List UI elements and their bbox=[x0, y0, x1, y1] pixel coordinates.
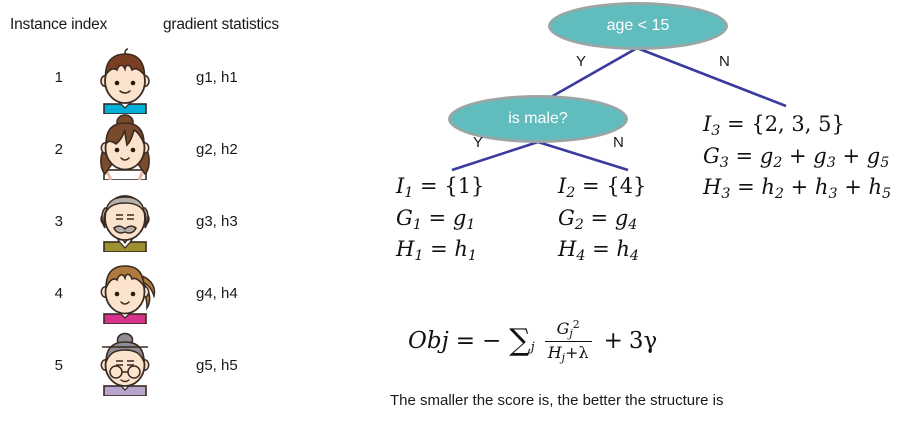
column-header-gradient-statistics: gradient statistics bbox=[163, 16, 279, 34]
edge-label-root-yes: Y bbox=[576, 53, 586, 70]
objective-equals: = bbox=[456, 328, 475, 354]
leaf-left-G-term-subscript: 1 bbox=[466, 217, 475, 233]
leaf-right-hessian-sum: H3 = h2 + h3 + h5 bbox=[703, 173, 891, 205]
leaf-right-I-value: {2, 3, 5} bbox=[751, 112, 845, 136]
figure-caption: The smaller the score is, the better the… bbox=[390, 392, 723, 409]
row-index-3: 3 bbox=[33, 213, 63, 230]
leaf-middle-G-term-subscript: 4 bbox=[628, 217, 637, 233]
leaf-right-G-symbol: G bbox=[703, 144, 720, 168]
leaf-right-H-term-3-subscript: 5 bbox=[882, 186, 891, 202]
objective-function-formula: Obj = − ∑j Gj2 Hj+λ + 3γ bbox=[408, 318, 657, 364]
summation-symbol: ∑j bbox=[509, 329, 530, 353]
fraction-numerator: Gj2 bbox=[554, 318, 583, 341]
leaf-right-H-symbol: H bbox=[703, 175, 721, 199]
numerator-base: G bbox=[557, 319, 570, 338]
old-woman-avatar bbox=[92, 330, 158, 396]
girl-ponytail-avatar bbox=[92, 258, 158, 324]
girl-bun-avatar bbox=[92, 114, 158, 180]
tree-node-is-male-label: is male? bbox=[508, 110, 568, 128]
leaf-middle-hessian-sum: H4 = h4 bbox=[558, 235, 646, 267]
leaf-left-gradient-sum: G1 = g1 bbox=[396, 204, 484, 236]
leaf-left-G-subscript: 1 bbox=[413, 217, 422, 233]
objective-minus-sign: − bbox=[482, 328, 501, 354]
numerator-exponent: 2 bbox=[573, 318, 580, 331]
leaf-middle-instances: I2 = {4} bbox=[558, 172, 646, 204]
leaf-middle-H-subscript: 4 bbox=[576, 248, 585, 264]
leaf-right-G-term-3-subscript: 5 bbox=[880, 155, 889, 171]
leaf-middle-H-symbol: H bbox=[558, 237, 576, 261]
fraction-denominator: Hj+λ bbox=[545, 341, 592, 364]
objective-lhs: Obj bbox=[408, 328, 449, 354]
leaf-left-H-term-subscript: 1 bbox=[468, 248, 477, 264]
sigma-glyph: ∑ bbox=[509, 323, 530, 358]
objective-fraction: Gj2 Hj+λ bbox=[545, 318, 592, 364]
row-index-5: 5 bbox=[33, 357, 63, 374]
leaf-right-G-term-3: g bbox=[867, 144, 880, 168]
tree-node-root-label: age < 15 bbox=[607, 17, 670, 35]
leaf-right-G-term-2: g bbox=[813, 144, 826, 168]
leaf-right-I-subscript: 3 bbox=[711, 123, 720, 139]
leaf-right-H-term-2-subscript: 3 bbox=[828, 186, 837, 202]
leaf-middle-gradient-sum: G2 = g4 bbox=[558, 204, 646, 236]
leaf-right-H-term-1: h bbox=[761, 175, 775, 199]
edge-label-root-no: N bbox=[719, 53, 730, 70]
leaf-middle-G-term: g bbox=[615, 206, 628, 230]
column-header-instance-index: Instance index bbox=[10, 16, 107, 34]
leaf-block-right: I3 = {2, 3, 5} G3 = g2 + g3 + g5 H3 = h2… bbox=[703, 110, 891, 205]
leaf-left-hessian-sum: H1 = h1 bbox=[396, 235, 484, 267]
row-gradient-2: g2, h2 bbox=[196, 141, 238, 158]
row-index-2: 2 bbox=[33, 141, 63, 158]
row-index-1: 1 bbox=[33, 69, 63, 86]
leaf-left-H-symbol: H bbox=[396, 237, 414, 261]
leaf-right-G-term-1-subscript: 2 bbox=[773, 155, 782, 171]
leaf-left-G-symbol: G bbox=[396, 206, 413, 230]
boy-avatar bbox=[92, 48, 158, 114]
leaf-left-I-subscript: 1 bbox=[404, 185, 413, 201]
leaf-middle-I-value: {4} bbox=[606, 174, 646, 198]
row-gradient-1: g1, h1 bbox=[196, 69, 238, 86]
edge-label-male-yes: Y bbox=[473, 134, 483, 151]
old-man-avatar bbox=[92, 186, 158, 252]
leaf-right-H-term-2: h bbox=[815, 175, 829, 199]
leaf-left-instances: I1 = {1} bbox=[396, 172, 484, 204]
leaf-right-H-term-3: h bbox=[868, 175, 882, 199]
row-gradient-3: g3, h3 bbox=[196, 213, 238, 230]
leaf-right-G-term-1: g bbox=[760, 144, 773, 168]
leaf-block-middle: I2 = {4} G2 = g4 H4 = h4 bbox=[558, 172, 646, 267]
leaf-left-H-term: h bbox=[454, 237, 468, 261]
objective-regularization-term: 3γ bbox=[629, 328, 657, 354]
row-gradient-4: g4, h4 bbox=[196, 285, 238, 302]
leaf-right-G-subscript: 3 bbox=[720, 155, 729, 171]
leaf-middle-H-term: h bbox=[616, 237, 630, 261]
leaf-left-G-term: g bbox=[453, 206, 466, 230]
leaf-right-H-subscript: 3 bbox=[721, 186, 730, 202]
leaf-middle-I-subscript: 2 bbox=[566, 185, 575, 201]
xgboost-tree-structure-figure: Instance index gradient statistics 1 g1,… bbox=[0, 0, 920, 421]
leaf-right-gradient-sum: G3 = g2 + g3 + g5 bbox=[703, 142, 891, 174]
leaf-middle-G-subscript: 2 bbox=[575, 217, 584, 233]
edge-label-male-no: N bbox=[613, 134, 624, 151]
leaf-right-instances: I3 = {2, 3, 5} bbox=[703, 110, 891, 142]
row-gradient-5: g5, h5 bbox=[196, 357, 238, 374]
tree-node-root[interactable]: age < 15 bbox=[548, 2, 728, 50]
denominator-base: H bbox=[548, 343, 562, 362]
leaf-block-left: I1 = {1} G1 = g1 H1 = h1 bbox=[396, 172, 484, 267]
leaf-right-G-term-2-subscript: 3 bbox=[827, 155, 836, 171]
leaf-middle-G-symbol: G bbox=[558, 206, 575, 230]
row-index-4: 4 bbox=[33, 285, 63, 302]
leaf-right-H-term-1-subscript: 2 bbox=[775, 186, 784, 202]
sigma-subscript: j bbox=[531, 342, 535, 352]
leaf-left-I-value: {1} bbox=[444, 174, 484, 198]
leaf-left-H-subscript: 1 bbox=[414, 248, 423, 264]
leaf-middle-H-term-subscript: 4 bbox=[630, 248, 639, 264]
denominator-lambda-term: +λ bbox=[565, 343, 589, 362]
objective-plus-sign: + bbox=[604, 328, 623, 354]
